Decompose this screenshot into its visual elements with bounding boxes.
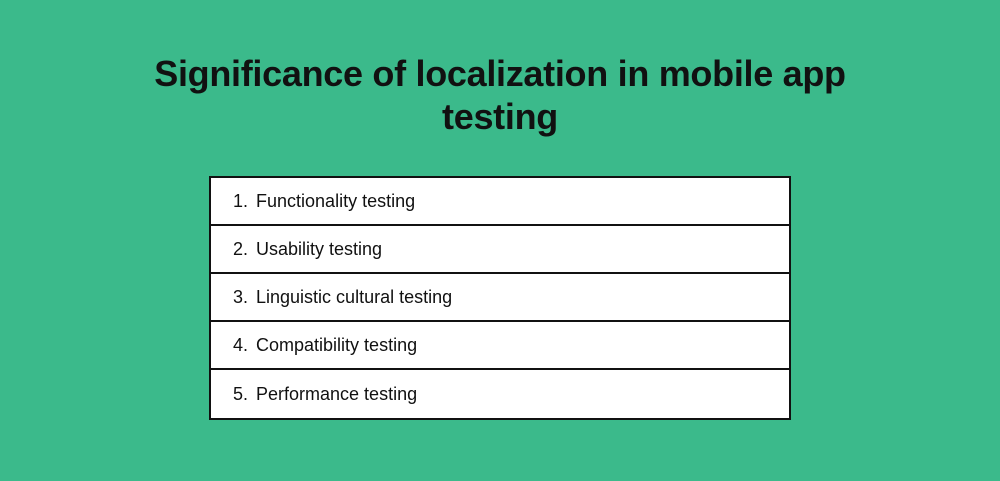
list-item: 2. Usability testing [211, 226, 789, 274]
list-item: 4. Compatibility testing [211, 322, 789, 370]
list-item: 1. Functionality testing [211, 178, 789, 226]
list-item-number: 4. [233, 335, 248, 356]
list-item-number: 5. [233, 384, 248, 405]
list-item-label: Usability testing [256, 239, 382, 260]
slide-canvas: Significance of localization in mobile a… [0, 0, 1000, 481]
list-item-label: Performance testing [256, 384, 417, 405]
list-item-number: 2. [233, 239, 248, 260]
list-item: 3. Linguistic cultural testing [211, 274, 789, 322]
list-item-label: Functionality testing [256, 191, 415, 212]
page-title: Significance of localization in mobile a… [150, 52, 850, 138]
list-item-number: 1. [233, 191, 248, 212]
list-item: 5. Performance testing [211, 370, 789, 418]
numbered-list: 1. Functionality testing 2. Usability te… [209, 176, 791, 420]
list-item-label: Linguistic cultural testing [256, 287, 452, 308]
list-item-label: Compatibility testing [256, 335, 417, 356]
list-item-number: 3. [233, 287, 248, 308]
